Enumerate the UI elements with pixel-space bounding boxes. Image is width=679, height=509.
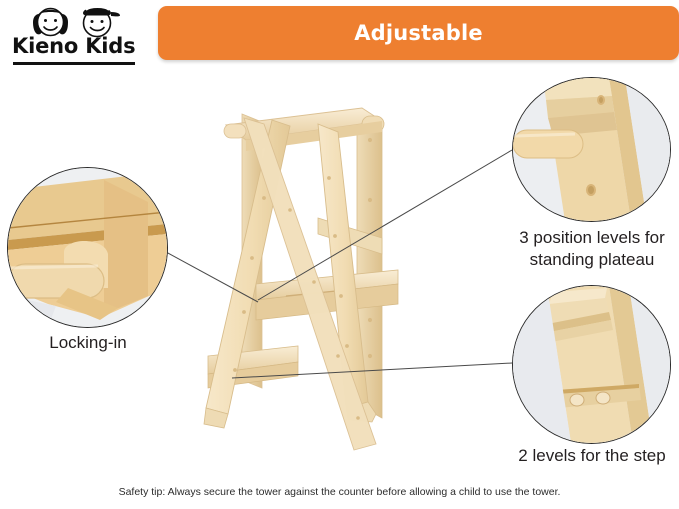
product-image bbox=[186, 88, 486, 460]
callout-standing-plateau-label: 3 position levels for standing plateau bbox=[506, 227, 678, 271]
wooden-dowel-lock-detail-icon bbox=[8, 168, 167, 327]
callout-standing-plateau: 3 position levels for standing plateau bbox=[512, 77, 672, 223]
brand-logo: Kieno Kids bbox=[8, 2, 148, 68]
brand-underline bbox=[13, 62, 135, 65]
callout-locking-in-circle bbox=[7, 167, 168, 328]
banner-title: Adjustable bbox=[158, 6, 679, 60]
wooden-step-holes-detail-icon bbox=[513, 286, 670, 443]
callout-step-levels: 2 levels for the step bbox=[512, 285, 672, 445]
brand-name: Kieno Kids bbox=[12, 34, 142, 58]
safety-tip-text: Safety tip: Always secure the tower agai… bbox=[0, 486, 679, 498]
wooden-rail-holes-detail-icon bbox=[513, 78, 670, 221]
callout-standing-plateau-line1: 3 position levels for bbox=[506, 227, 678, 249]
banner-adjustable: Adjustable bbox=[158, 6, 679, 60]
callout-step-levels-circle bbox=[512, 285, 671, 444]
callout-locking-in-label: Locking-in bbox=[0, 332, 181, 354]
learning-tower-illustration bbox=[186, 88, 486, 460]
two-kids-faces-icon bbox=[26, 2, 136, 38]
callout-standing-plateau-circle bbox=[512, 77, 671, 222]
callout-step-levels-label: 2 levels for the step bbox=[502, 445, 679, 467]
callout-locking-in: Locking-in bbox=[7, 167, 169, 329]
header: Kieno Kids Adjustable bbox=[0, 0, 679, 70]
callout-standing-plateau-line2: standing plateau bbox=[506, 249, 678, 271]
